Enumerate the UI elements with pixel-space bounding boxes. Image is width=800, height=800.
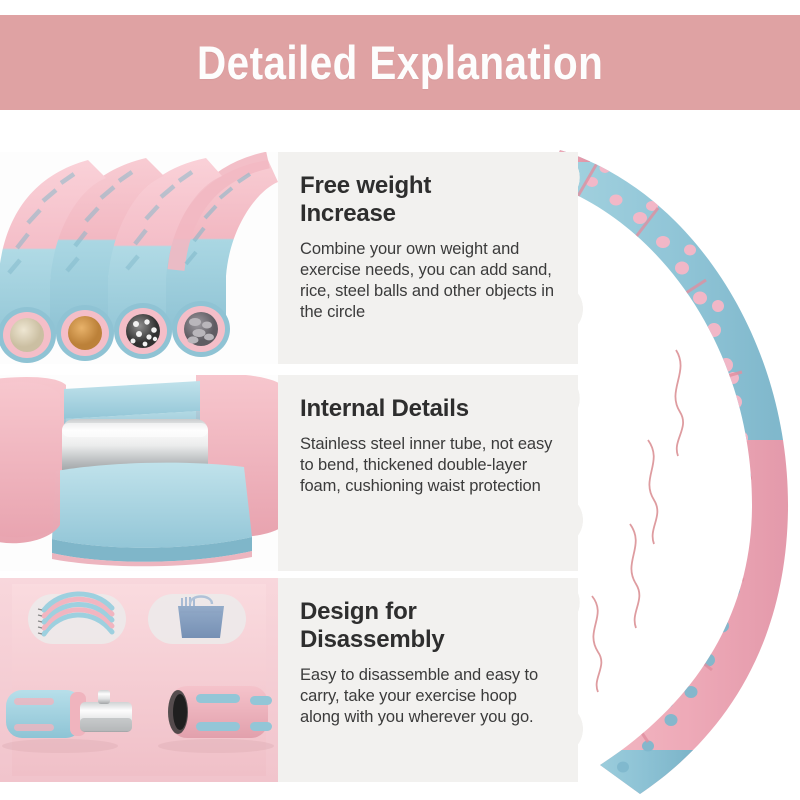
section-design-for-disassembly: Design for Disassembly Easy to disassemb…	[0, 578, 578, 782]
text-card-design-for-disassembly: Design for Disassembly Easy to disassemb…	[278, 578, 578, 782]
hoop-segments-cross-section-photo	[0, 152, 278, 364]
header-banner: Detailed Explanation	[0, 15, 800, 110]
card-title: Design for Disassembly	[300, 598, 560, 654]
section-internal-details: Internal Details Stainless steel inner t…	[0, 375, 578, 571]
card-title: Free weight Increase	[300, 172, 560, 228]
cross-section-rice	[0, 307, 56, 363]
hoop-dots-upper	[586, 163, 748, 445]
cross-section-steel-balls	[114, 303, 172, 359]
section-free-weight-increase: Free weight Increase Combine your own we…	[0, 152, 578, 364]
hoop-dots-lower	[617, 469, 751, 773]
page-title: Detailed Explanation	[197, 35, 603, 90]
hoop-segment-joints	[578, 158, 752, 742]
tube-right-socket	[168, 686, 272, 738]
infographic-page: Detailed Explanation	[0, 0, 800, 800]
card-title: Internal Details	[300, 395, 560, 423]
disassembly-photo	[0, 578, 278, 782]
cross-section-stones	[172, 301, 230, 357]
inner-tube-cutaway-photo	[0, 375, 278, 571]
card-body: Stainless steel inner tube, not easy to …	[300, 434, 560, 497]
card-body: Easy to disassemble and easy to carry, t…	[300, 665, 560, 728]
text-card-internal-details: Internal Details Stainless steel inner t…	[278, 375, 578, 571]
text-card-free-weight-increase: Free weight Increase Combine your own we…	[278, 152, 578, 364]
cross-section-sand	[56, 305, 114, 361]
card-body: Combine your own weight and exercise nee…	[300, 239, 560, 323]
